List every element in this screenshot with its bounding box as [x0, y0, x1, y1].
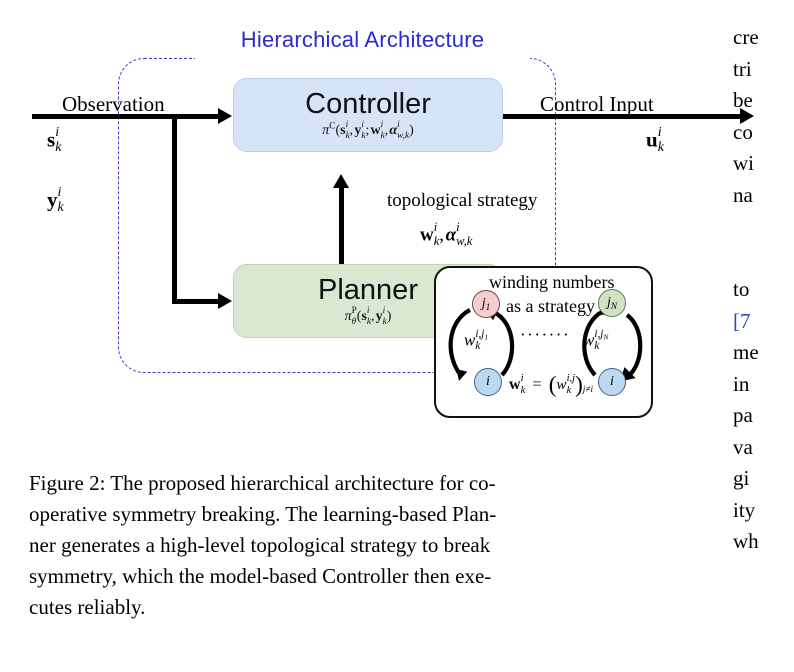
controller-title: Controller: [305, 90, 431, 119]
control-input-label: Control Input: [540, 92, 654, 117]
right-paragraph-gap: [733, 211, 794, 243]
observation-to-controller-arrowhead: [218, 108, 232, 124]
observation-to-planner-line: [172, 299, 220, 304]
node-i-right: i: [598, 368, 626, 396]
right-line: gi: [733, 463, 794, 495]
strategy-arrow-head: [333, 174, 349, 188]
winding-numbers-inset[interactable]: winding numbers as a strategy j1 i jN: [434, 266, 653, 418]
right-line: tri: [733, 54, 794, 86]
caption-line-2: operative symmetry breaking. The learnin…: [29, 499, 639, 530]
right-line: va: [733, 432, 794, 464]
winding-matrix-formula: wik = (wi,jk)j≠i: [509, 372, 593, 399]
right-line: be: [733, 85, 794, 117]
controller-block[interactable]: Controller πC(sik, yik; wik, αiw,k): [233, 78, 503, 152]
figure-2-graphic: Hierarchical Architecture Observation si…: [0, 0, 730, 455]
strategy-arrow-line: [339, 186, 344, 264]
observation-symbol-y: yik: [47, 186, 64, 214]
right-line: ity: [733, 495, 794, 527]
controller-policy: πC(sik, yik; wik, αiw,k): [322, 121, 413, 140]
right-column-text: cre tri be co wi na to [7 me in pa va gi…: [733, 22, 794, 672]
right-line: pa: [733, 400, 794, 432]
right-line: co: [733, 117, 794, 149]
right-line: cre: [733, 22, 794, 54]
observation-symbol-s: sik: [47, 126, 61, 154]
caption-line-5: cutes reliably.: [29, 592, 639, 623]
figure-page: Hierarchical Architecture Observation si…: [0, 0, 794, 672]
edge-weight-left: wi,j1k: [464, 330, 488, 353]
topological-strategy-label: topological strategy: [387, 190, 537, 212]
observation-to-controller-line: [172, 114, 220, 119]
observation-label: Observation: [62, 92, 165, 117]
node-j1: j1: [472, 290, 500, 318]
control-input-symbol: uik: [646, 126, 664, 154]
right-line-citation[interactable]: [7: [733, 306, 794, 338]
hierarchical-architecture-title: Hierarchical Architecture: [190, 27, 535, 53]
right-line: me: [733, 337, 794, 369]
observation-to-planner-arrowhead: [218, 293, 232, 309]
edge-weight-right: wi,jNk: [583, 330, 608, 353]
right-line: to: [733, 274, 794, 306]
right-line: wh: [733, 526, 794, 558]
node-i-left: i: [474, 368, 502, 396]
planner-policy: πPθ(sik, yik): [345, 307, 392, 326]
right-line: na: [733, 180, 794, 212]
winding-ellipsis: ·······: [520, 325, 570, 345]
right-line: in: [733, 369, 794, 401]
right-paragraph-gap: [733, 243, 794, 275]
planner-title: Planner: [318, 276, 418, 305]
caption-line-3: ner generates a high-level topological s…: [29, 530, 639, 561]
caption-line-4: symmetry, which the model-based Controll…: [29, 561, 639, 592]
strategy-symbols: wik, αiw,k: [420, 222, 472, 248]
right-line: wi: [733, 148, 794, 180]
caption-line-1: Figure 2: The proposed hierarchical arch…: [29, 468, 639, 499]
observation-arrow-branch: [172, 114, 177, 304]
figure-caption: Figure 2: The proposed hierarchical arch…: [29, 468, 639, 623]
node-jN: jN: [598, 289, 626, 317]
